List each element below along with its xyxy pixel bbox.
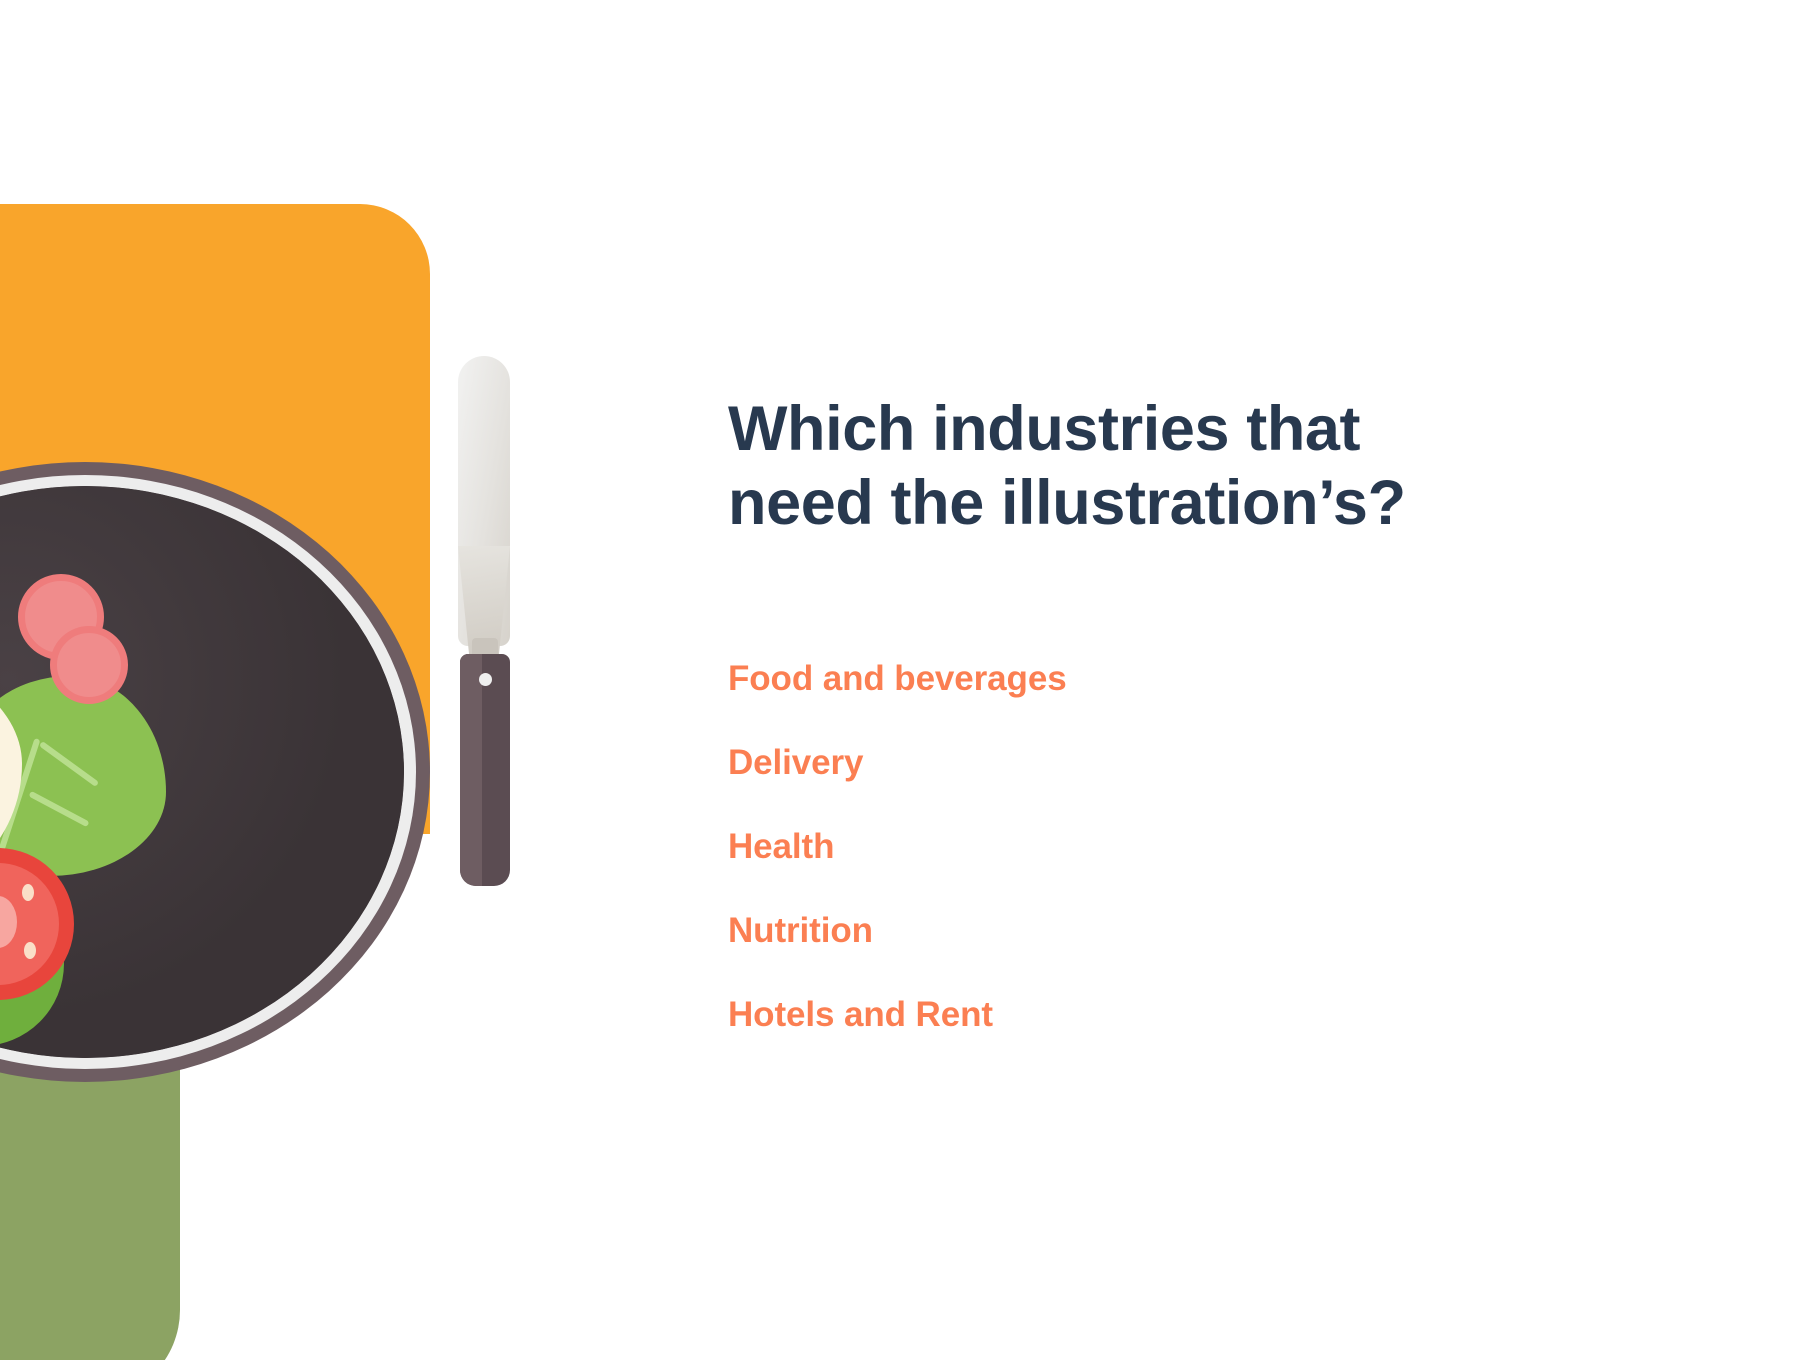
- frying-pan-illustration: [0, 462, 430, 1082]
- knife-handle-highlight: [460, 654, 482, 886]
- page-title: Which industries that need the illustrat…: [728, 392, 1708, 541]
- sausage-slice: [50, 626, 128, 704]
- slide-canvas: Which industries that need the illustrat…: [0, 0, 1800, 1360]
- butter-knife-illustration: [448, 356, 522, 886]
- list-item[interactable]: Health: [728, 827, 1708, 867]
- knife-rivet: [479, 673, 492, 686]
- text-column: Which industries that need the illustrat…: [728, 392, 1708, 1035]
- list-item[interactable]: Nutrition: [728, 911, 1708, 951]
- tomato-seed: [22, 884, 34, 901]
- tomato-seed: [24, 942, 36, 959]
- list-item[interactable]: Delivery: [728, 743, 1708, 783]
- list-item[interactable]: Hotels and Rent: [728, 995, 1708, 1035]
- list-item[interactable]: Food and beverages: [728, 659, 1708, 699]
- industry-list: Food and beverages Delivery Health Nutri…: [728, 659, 1708, 1035]
